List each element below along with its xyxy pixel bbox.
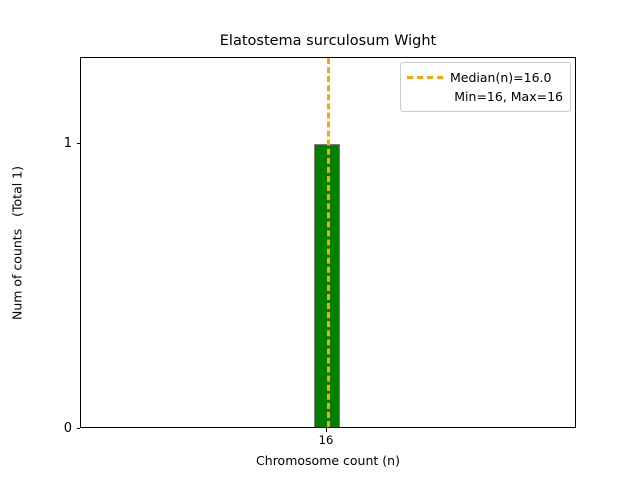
plot-area: Median(n)=16.0 Min=16, Max=16	[80, 57, 576, 428]
x-tick-mark-16	[326, 428, 327, 432]
y-axis-label: Num of counts (Total 1)	[10, 165, 25, 319]
chart-title: Elatostema surculosum Wight	[80, 32, 576, 50]
y-tick-mark-0	[77, 428, 81, 429]
y-tick-label-0: 0	[52, 422, 72, 435]
legend-label-median: Median(n)=16.0	[450, 70, 551, 85]
y-tick-label-1: 1	[52, 137, 72, 150]
legend-item-median: Median(n)=16.0	[407, 68, 563, 87]
figure-canvas: Elatostema surculosum Wight Num of count…	[0, 0, 640, 480]
median-line	[327, 58, 330, 427]
legend-item-minmax: Min=16, Max=16	[407, 87, 563, 106]
y-axis-label-container: Num of counts (Total 1)	[0, 57, 34, 428]
legend: Median(n)=16.0 Min=16, Max=16	[400, 62, 571, 112]
x-tick-label-16: 16	[306, 434, 346, 447]
legend-dashed-line-icon	[407, 76, 443, 79]
legend-label-minmax: Min=16, Max=16	[454, 89, 563, 104]
x-axis-label: Chromosome count (n)	[80, 453, 576, 468]
